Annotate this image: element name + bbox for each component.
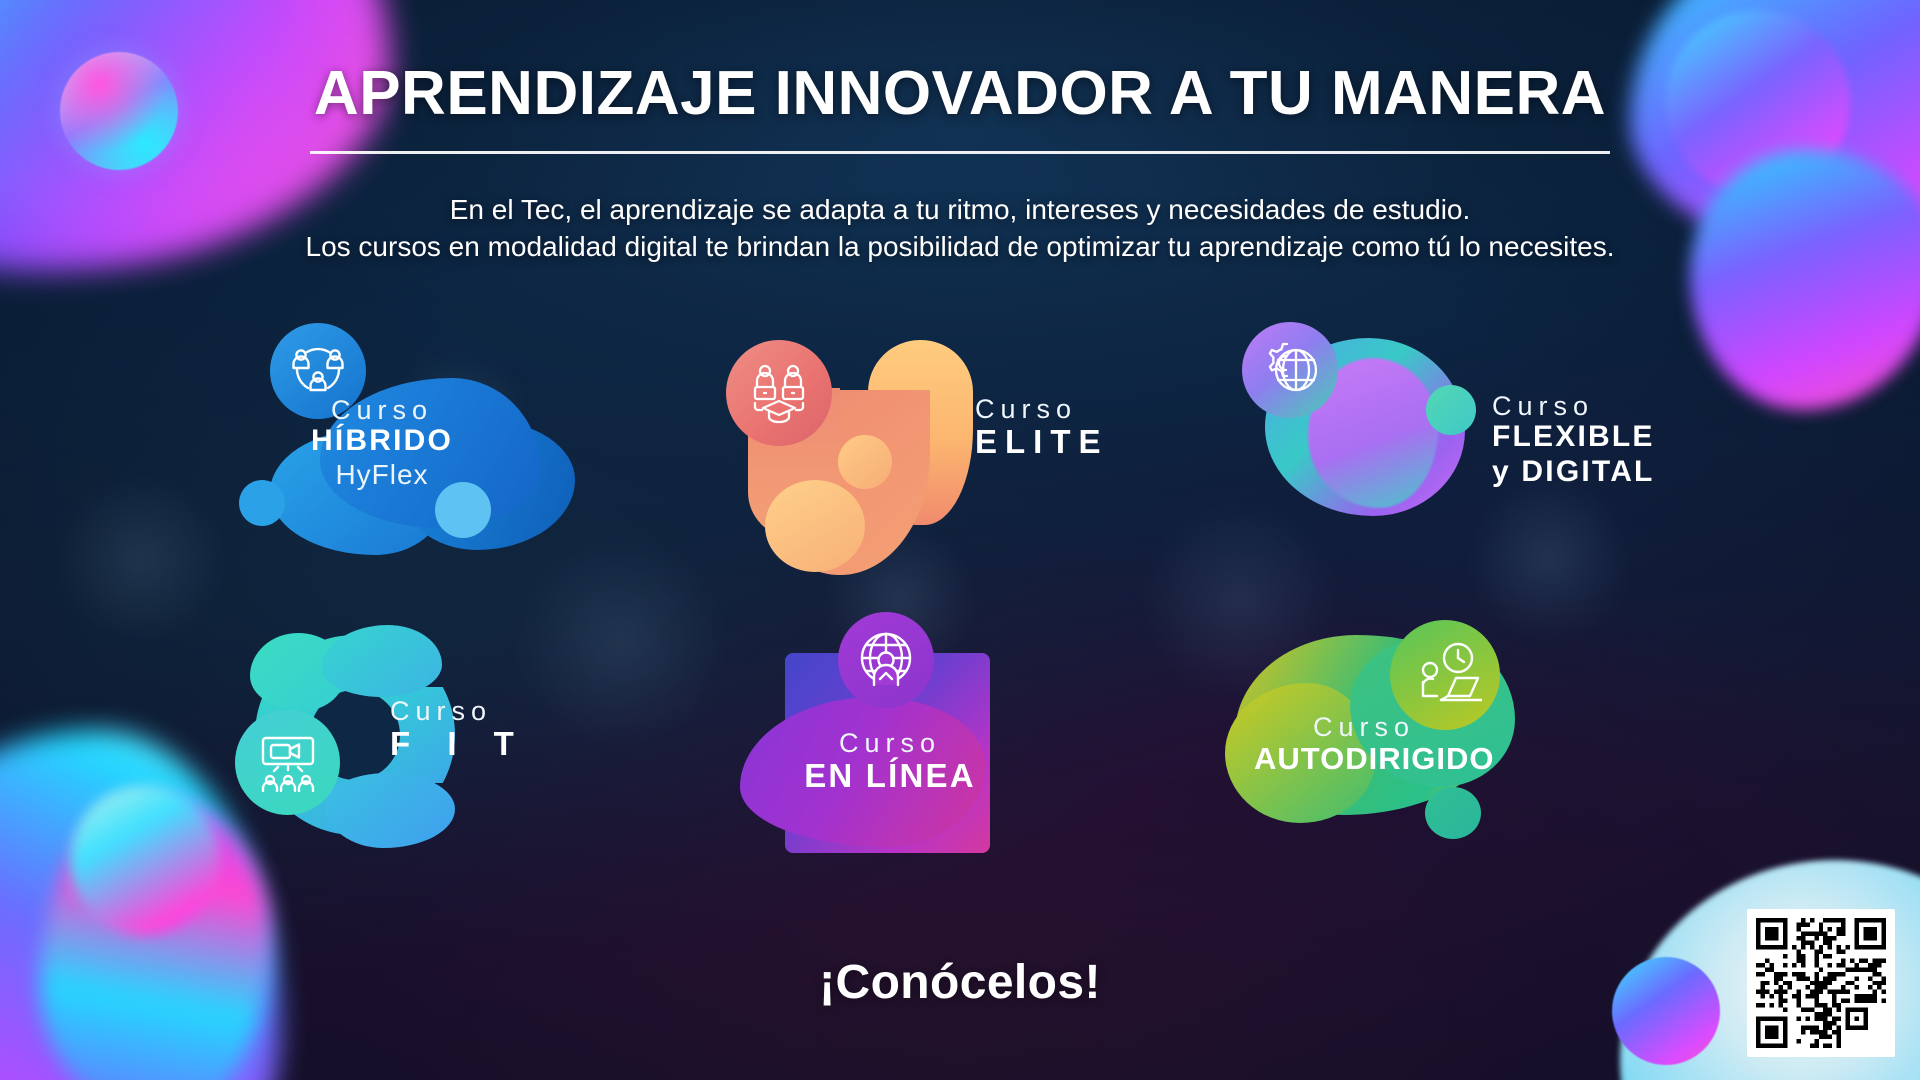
course-card-labels: Curso EN LÍNEA: [790, 729, 990, 795]
blob-dot: [1426, 385, 1476, 435]
course-name: EN LÍNEA: [790, 757, 990, 795]
course-name: FLEXIBLE: [1492, 420, 1655, 455]
course-card-hibrido[interactable]: Curso HÍBRIDO HyFlex: [230, 330, 730, 580]
course-card-labels: Curso HÍBRIDO HyFlex: [292, 396, 472, 491]
course-eyebrow: Curso: [1492, 392, 1655, 420]
decorative-bubble-bottom-left: [70, 785, 220, 935]
blob-dot: [838, 435, 892, 489]
course-name: F I T: [390, 725, 528, 763]
cta-text: ¡Conócelos!: [0, 955, 1920, 1010]
course-grid: Curso HÍBRIDO HyFlex: [230, 330, 1730, 875]
course-eyebrow: Curso: [975, 395, 1109, 423]
course-name: AUTODIRIGIDO: [1254, 741, 1474, 777]
globe-person-icon: [838, 612, 934, 708]
course-eyebrow: Curso: [1254, 713, 1474, 741]
header: APRENDIZAJE INNOVADOR A TU MANERA En el …: [0, 58, 1920, 266]
course-eyebrow: Curso: [390, 697, 528, 725]
course-card-elite[interactable]: Curso ELITE: [730, 330, 1230, 580]
course-card-autodirigido[interactable]: Curso AUTODIRIGIDO: [1230, 625, 1730, 875]
qr-code[interactable]: [1747, 909, 1895, 1057]
subtitle-line-1: En el Tec, el aprendizaje se adapta a tu…: [0, 192, 1920, 229]
blob-dot: [765, 480, 865, 572]
course-card-flexible-digital[interactable]: Curso FLEXIBLE y DIGITAL: [1230, 330, 1730, 580]
students-laptops-graduation-cap-icon: [726, 340, 832, 446]
course-card-labels: Curso F I T: [390, 697, 528, 763]
gear-globe-icon: [1242, 322, 1338, 418]
course-card-labels: Curso AUTODIRIGIDO: [1254, 713, 1474, 777]
subtitle: En el Tec, el aprendizaje se adapta a tu…: [0, 192, 1920, 266]
course-card-en-linea[interactable]: Curso EN LÍNEA: [730, 625, 1230, 875]
qr-code-image: [1756, 918, 1886, 1048]
video-camera-audience-icon: [235, 710, 340, 815]
course-card-labels: Curso ELITE: [975, 395, 1109, 461]
blob-dot: [1425, 787, 1481, 839]
course-card-fit[interactable]: Curso F I T: [230, 625, 730, 875]
subtitle-line-2: Los cursos en modalidad digital te brind…: [0, 229, 1920, 266]
blob-shape: [325, 773, 455, 848]
course-name: HÍBRIDO: [292, 424, 472, 459]
title-divider: [310, 151, 1610, 154]
course-subname: HyFlex: [292, 459, 472, 491]
course-name: ELITE: [975, 423, 1109, 461]
course-subname: y DIGITAL: [1492, 455, 1655, 490]
blob-dot: [239, 480, 285, 526]
course-eyebrow: Curso: [790, 729, 990, 757]
page-title: APRENDIZAJE INNOVADOR A TU MANERA: [0, 58, 1920, 129]
course-card-labels: Curso FLEXIBLE y DIGITAL: [1492, 392, 1655, 489]
course-eyebrow: Curso: [292, 396, 472, 424]
